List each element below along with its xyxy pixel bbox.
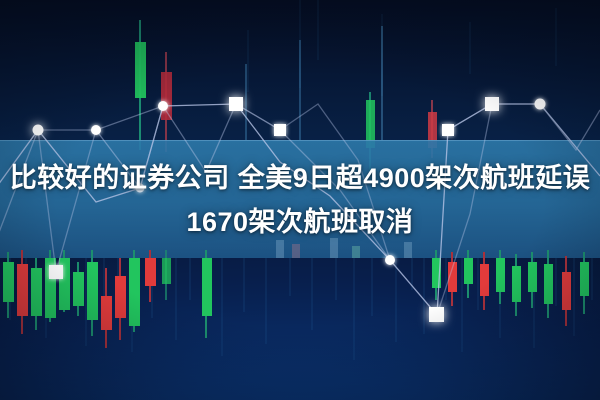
headline: 比较好的证券公司 全美9日超4900架次航班延误 1670架次航班取消 <box>0 156 600 244</box>
node-square <box>274 124 286 136</box>
node-square <box>49 265 63 279</box>
node-square <box>442 124 454 136</box>
node-circle <box>535 99 546 110</box>
node-square-glow <box>229 97 243 111</box>
headline-line-1: 比较好的证券公司 全美9日超4900架次航班延误 <box>0 156 600 200</box>
headline-line-2: 1670架次航班取消 <box>0 200 600 244</box>
node-square-glow <box>429 307 444 322</box>
banner-image: 比较好的证券公司 全美9日超4900架次航班延误 1670架次航班取消 <box>0 0 600 400</box>
node-circle <box>158 101 168 111</box>
node-circle <box>385 255 395 265</box>
node-square-glow <box>485 97 499 111</box>
node-circle <box>91 125 101 135</box>
node-circle-glow <box>33 125 44 136</box>
